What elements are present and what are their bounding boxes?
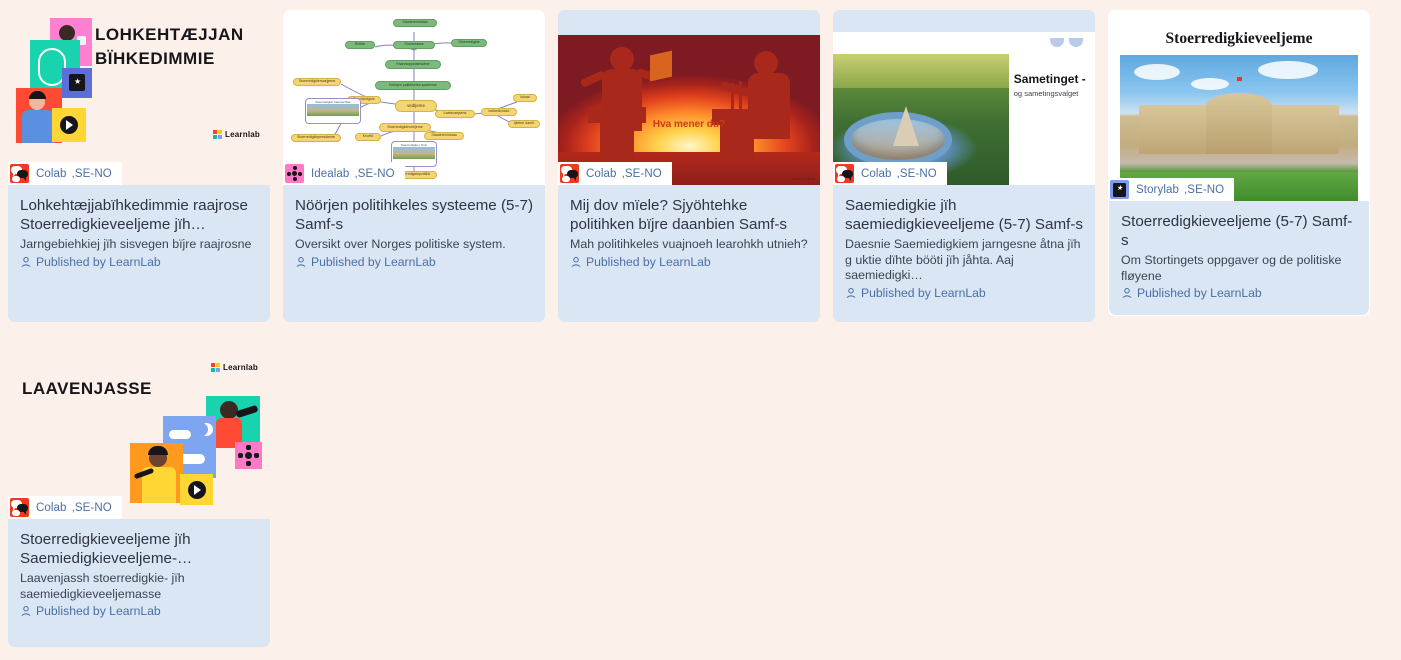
person-icon [20, 605, 32, 617]
slide-heading: Stoerredigkieveeljeme [1108, 30, 1370, 48]
card-title: Lohkehtæjjabïhkedimmie raajrose Stoerred… [20, 196, 259, 234]
image-credit: Adobe Stock [792, 176, 815, 181]
lavvu-cone [893, 106, 919, 146]
badge-locale: ,SE-NO [897, 168, 937, 180]
publisher-text: Published by LearnLab [586, 255, 711, 269]
card-title: Stoerredigkieveeljeme jïh Saemiedigkieve… [20, 530, 259, 568]
resource-card-mij-dov-miele[interactable]: Hva mener du? Adobe Stock Colab ,SE-NO M… [558, 10, 820, 322]
card-body: Saemiedigkie jïh saemiedigkieveeljeme (5… [833, 185, 1095, 322]
badge-app-name: Colab [861, 168, 892, 180]
card-title: Saemiedigkie jïh saemiedigkieveeljeme (5… [845, 196, 1084, 234]
card-body: Nöörjen politihkeles systeeme (5-7) Samf… [283, 185, 545, 322]
publisher-text: Published by LearnLab [1137, 286, 1262, 300]
mindmap-image-node-1: Saemiedigkie haeraschkar [305, 98, 361, 124]
badge-locale: ,SE-NO [622, 168, 662, 180]
resource-card-laavenjasse[interactable]: Learnlab LAAVENJASSE [8, 336, 270, 647]
cover-tiles: ★ [16, 18, 106, 148]
cover-tiles [130, 396, 260, 511]
colab-icon [10, 164, 29, 183]
badge-locale: ,SE-NO [72, 168, 112, 180]
card-description: Daesnie Saemiedigkiem jarngesne åtna jïh… [845, 237, 1084, 284]
idealab-icon [285, 164, 304, 183]
slide-heading: Sametinget - [1014, 72, 1086, 86]
card-body: Stoerredigkieveeljeme jïh Saemiedigkieve… [8, 519, 270, 647]
person-icon [295, 256, 307, 268]
card-description: Oversikt over Norges politiske system. [295, 237, 534, 253]
publisher-text: Published by LearnLab [36, 255, 161, 269]
publisher-text: Published by LearnLab [36, 604, 161, 618]
person-icon [845, 287, 857, 299]
badge-app-name: Colab [36, 168, 67, 180]
card-thumbnail: Staatereninstaa Gonnerasse Rïekte Stoerr… [283, 10, 545, 185]
learnlab-mark-icon [211, 363, 220, 372]
tile-play [180, 474, 213, 505]
tile-orange [130, 443, 183, 503]
card-description: Mah politihkeles vuajnoeh learohkh utnie… [570, 237, 809, 253]
badge-app-name: Colab [586, 168, 617, 180]
learnlab-wordmark: Learnlab [223, 363, 258, 372]
badge-app-name: Idealab [311, 168, 349, 180]
resource-card-lohkehtaejjan[interactable]: Learnlab LOHKEHTÆJJAN BÏHKEDIMMIE ★ [8, 10, 270, 322]
mindmap-art: Staatereninstaa Gonnerasse Rïekte Stoerr… [283, 10, 545, 185]
resource-card-stoerredigkieveeljeme[interactable]: Stoerredigkieveeljeme ★ Storylab ,SE-NO [1108, 10, 1370, 316]
card-thumbnail: Stoerredigkieveeljeme ★ Storylab ,SE-NO [1108, 10, 1370, 201]
card-publisher: Published by LearnLab [1121, 286, 1358, 300]
learnlab-wordmark: Learnlab [225, 130, 260, 139]
person-icon [20, 256, 32, 268]
colab-icon [560, 164, 579, 183]
tile-book: ★ [62, 68, 92, 98]
decor-dots [1050, 38, 1083, 47]
card-thumbnail: Learnlab LAAVENJASSE [8, 336, 270, 519]
card-description: Jarngebiehkiej jïh sisvegen bïjre raajro… [20, 237, 259, 253]
card-publisher: Published by LearnLab [845, 286, 1084, 300]
card-publisher: Published by LearnLab [295, 255, 534, 269]
card-description: Om Stortingets oppgaver og de politiske … [1121, 253, 1358, 284]
card-grid: Learnlab LOHKEHTÆJJAN BÏHKEDIMMIE ★ [0, 0, 1401, 647]
slide-subheading: og sametingsvalget [1014, 89, 1079, 98]
person-icon [1121, 287, 1133, 299]
card-publisher: Published by LearnLab [20, 255, 259, 269]
app-badge[interactable]: Colab ,SE-NO [833, 162, 947, 185]
publisher-text: Published by LearnLab [311, 255, 436, 269]
colab-icon [835, 164, 854, 183]
card-publisher: Published by LearnLab [20, 604, 259, 618]
tile-pink [235, 442, 262, 469]
card-title: Stoerredigkieveeljeme (5-7) Samf-s [1121, 212, 1358, 250]
app-badge[interactable]: Idealab ,SE-NO [283, 162, 405, 185]
card-description: Laavenjassh stoerredigkie- jïh saemiedig… [20, 571, 259, 602]
publisher-text: Published by LearnLab [861, 286, 986, 300]
card-body: Mij dov mïele? Sjyöhtehke politihken bïj… [558, 185, 820, 322]
badge-locale: ,SE-NO [1184, 184, 1224, 196]
app-badge[interactable]: Colab ,SE-NO [8, 162, 122, 185]
app-badge[interactable]: Colab ,SE-NO [558, 162, 672, 185]
card-body: Stoerredigkieveeljeme (5-7) Samf-s Om St… [1109, 201, 1369, 315]
card-title: Nöörjen politihkeles systeeme (5-7) Samf… [295, 196, 534, 234]
learnlab-cover-art: Learnlab LAAVENJASSE [8, 336, 270, 519]
tile-play [52, 108, 86, 142]
debate-caption: Hva mener du? [558, 119, 820, 130]
learnlab-logo: Learnlab [213, 130, 260, 139]
card-thumbnail: Learnlab LOHKEHTÆJJAN BÏHKEDIMMIE ★ [8, 10, 270, 185]
learnlab-logo: Learnlab [211, 363, 258, 372]
resource-card-saemiedigkie[interactable]: Sametinget - og sametingsvalget Colab ,S… [833, 10, 1095, 322]
cover-heading: LOHKEHTÆJJAN BÏHKEDIMMIE [95, 23, 255, 71]
card-thumbnail: Sametinget - og sametingsvalget Colab ,S… [833, 10, 1095, 185]
storylab-icon: ★ [1110, 180, 1129, 199]
person-icon [570, 256, 582, 268]
resource-card-noorjen-politihkeles[interactable]: Staatereninstaa Gonnerasse Rïekte Stoerr… [283, 10, 545, 322]
badge-locale: ,SE-NO [72, 502, 112, 514]
card-publisher: Published by LearnLab [570, 255, 809, 269]
app-badge[interactable]: ★ Storylab ,SE-NO [1108, 178, 1234, 201]
card-thumbnail: Hva mener du? Adobe Stock Colab ,SE-NO [558, 10, 820, 185]
badge-app-name: Colab [36, 502, 67, 514]
debate-art-wrap: Hva mener du? Adobe Stock [558, 10, 820, 185]
colab-icon [10, 498, 29, 517]
stortinget-art: Stoerredigkieveeljeme [1108, 10, 1370, 201]
flag-icon [1237, 77, 1242, 81]
badge-locale: ,SE-NO [354, 168, 394, 180]
building-rotunda [1206, 93, 1273, 154]
card-title: Mij dov mïele? Sjyöhtehke politihken bïj… [570, 196, 809, 234]
app-badge[interactable]: Colab ,SE-NO [8, 496, 122, 519]
photo-hill [833, 54, 1009, 88]
learnlab-cover-art: Learnlab LOHKEHTÆJJAN BÏHKEDIMMIE ★ [8, 10, 270, 185]
card-body: Lohkehtæjjabïhkedimmie raajrose Stoerred… [8, 185, 270, 322]
learnlab-mark-icon [213, 130, 222, 139]
badge-app-name: Storylab [1136, 184, 1179, 196]
